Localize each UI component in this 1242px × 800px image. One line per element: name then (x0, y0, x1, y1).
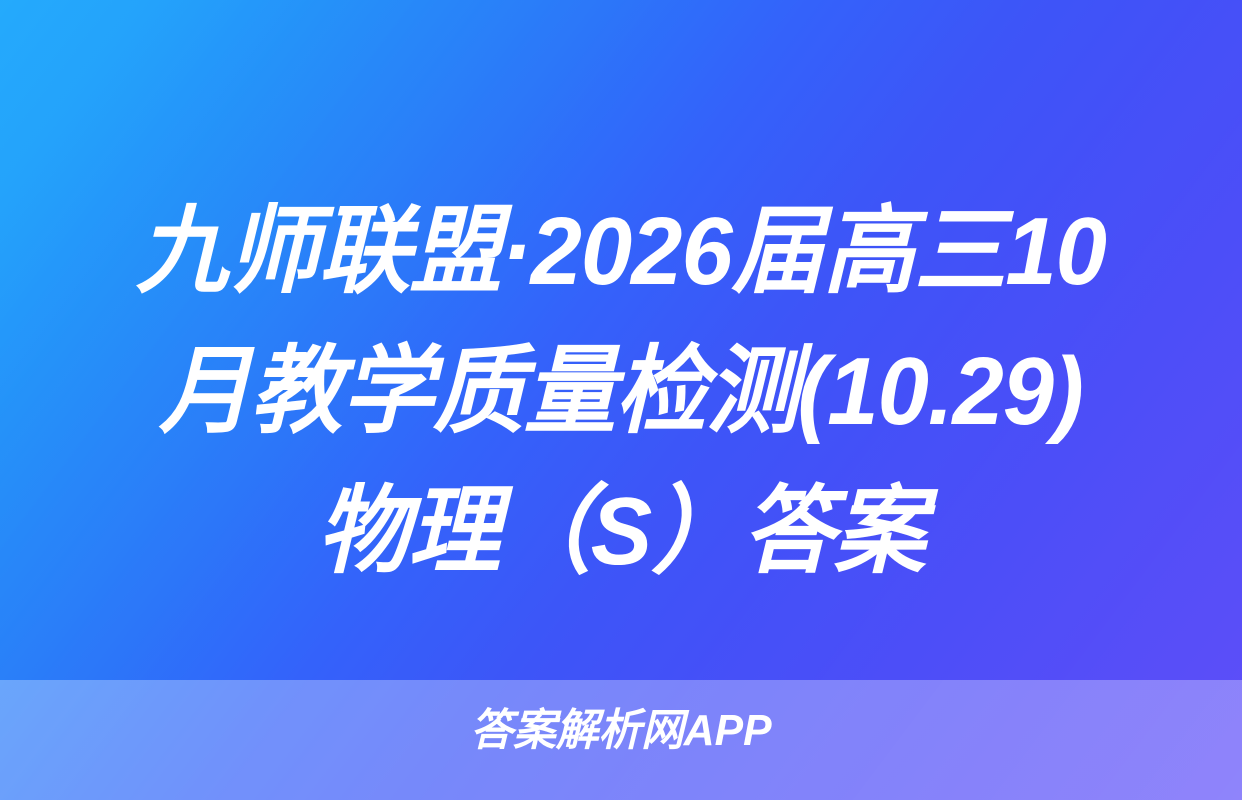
title-block: 九师联盟·2026届高三10 月教学质量检测(10.29) 物理（S）答案 (0, 182, 1242, 602)
watermark-label: 答案解析网APP (19, 703, 1224, 759)
title-line-2: 月教学质量检测(10.29) (48, 322, 1194, 462)
title-line-3: 物理（S）答案 (48, 462, 1194, 602)
title-card: 九师联盟·2026届高三10 月教学质量检测(10.29) 物理（S）答案 答案… (0, 0, 1242, 800)
title-line-1: 九师联盟·2026届高三10 (48, 182, 1194, 322)
